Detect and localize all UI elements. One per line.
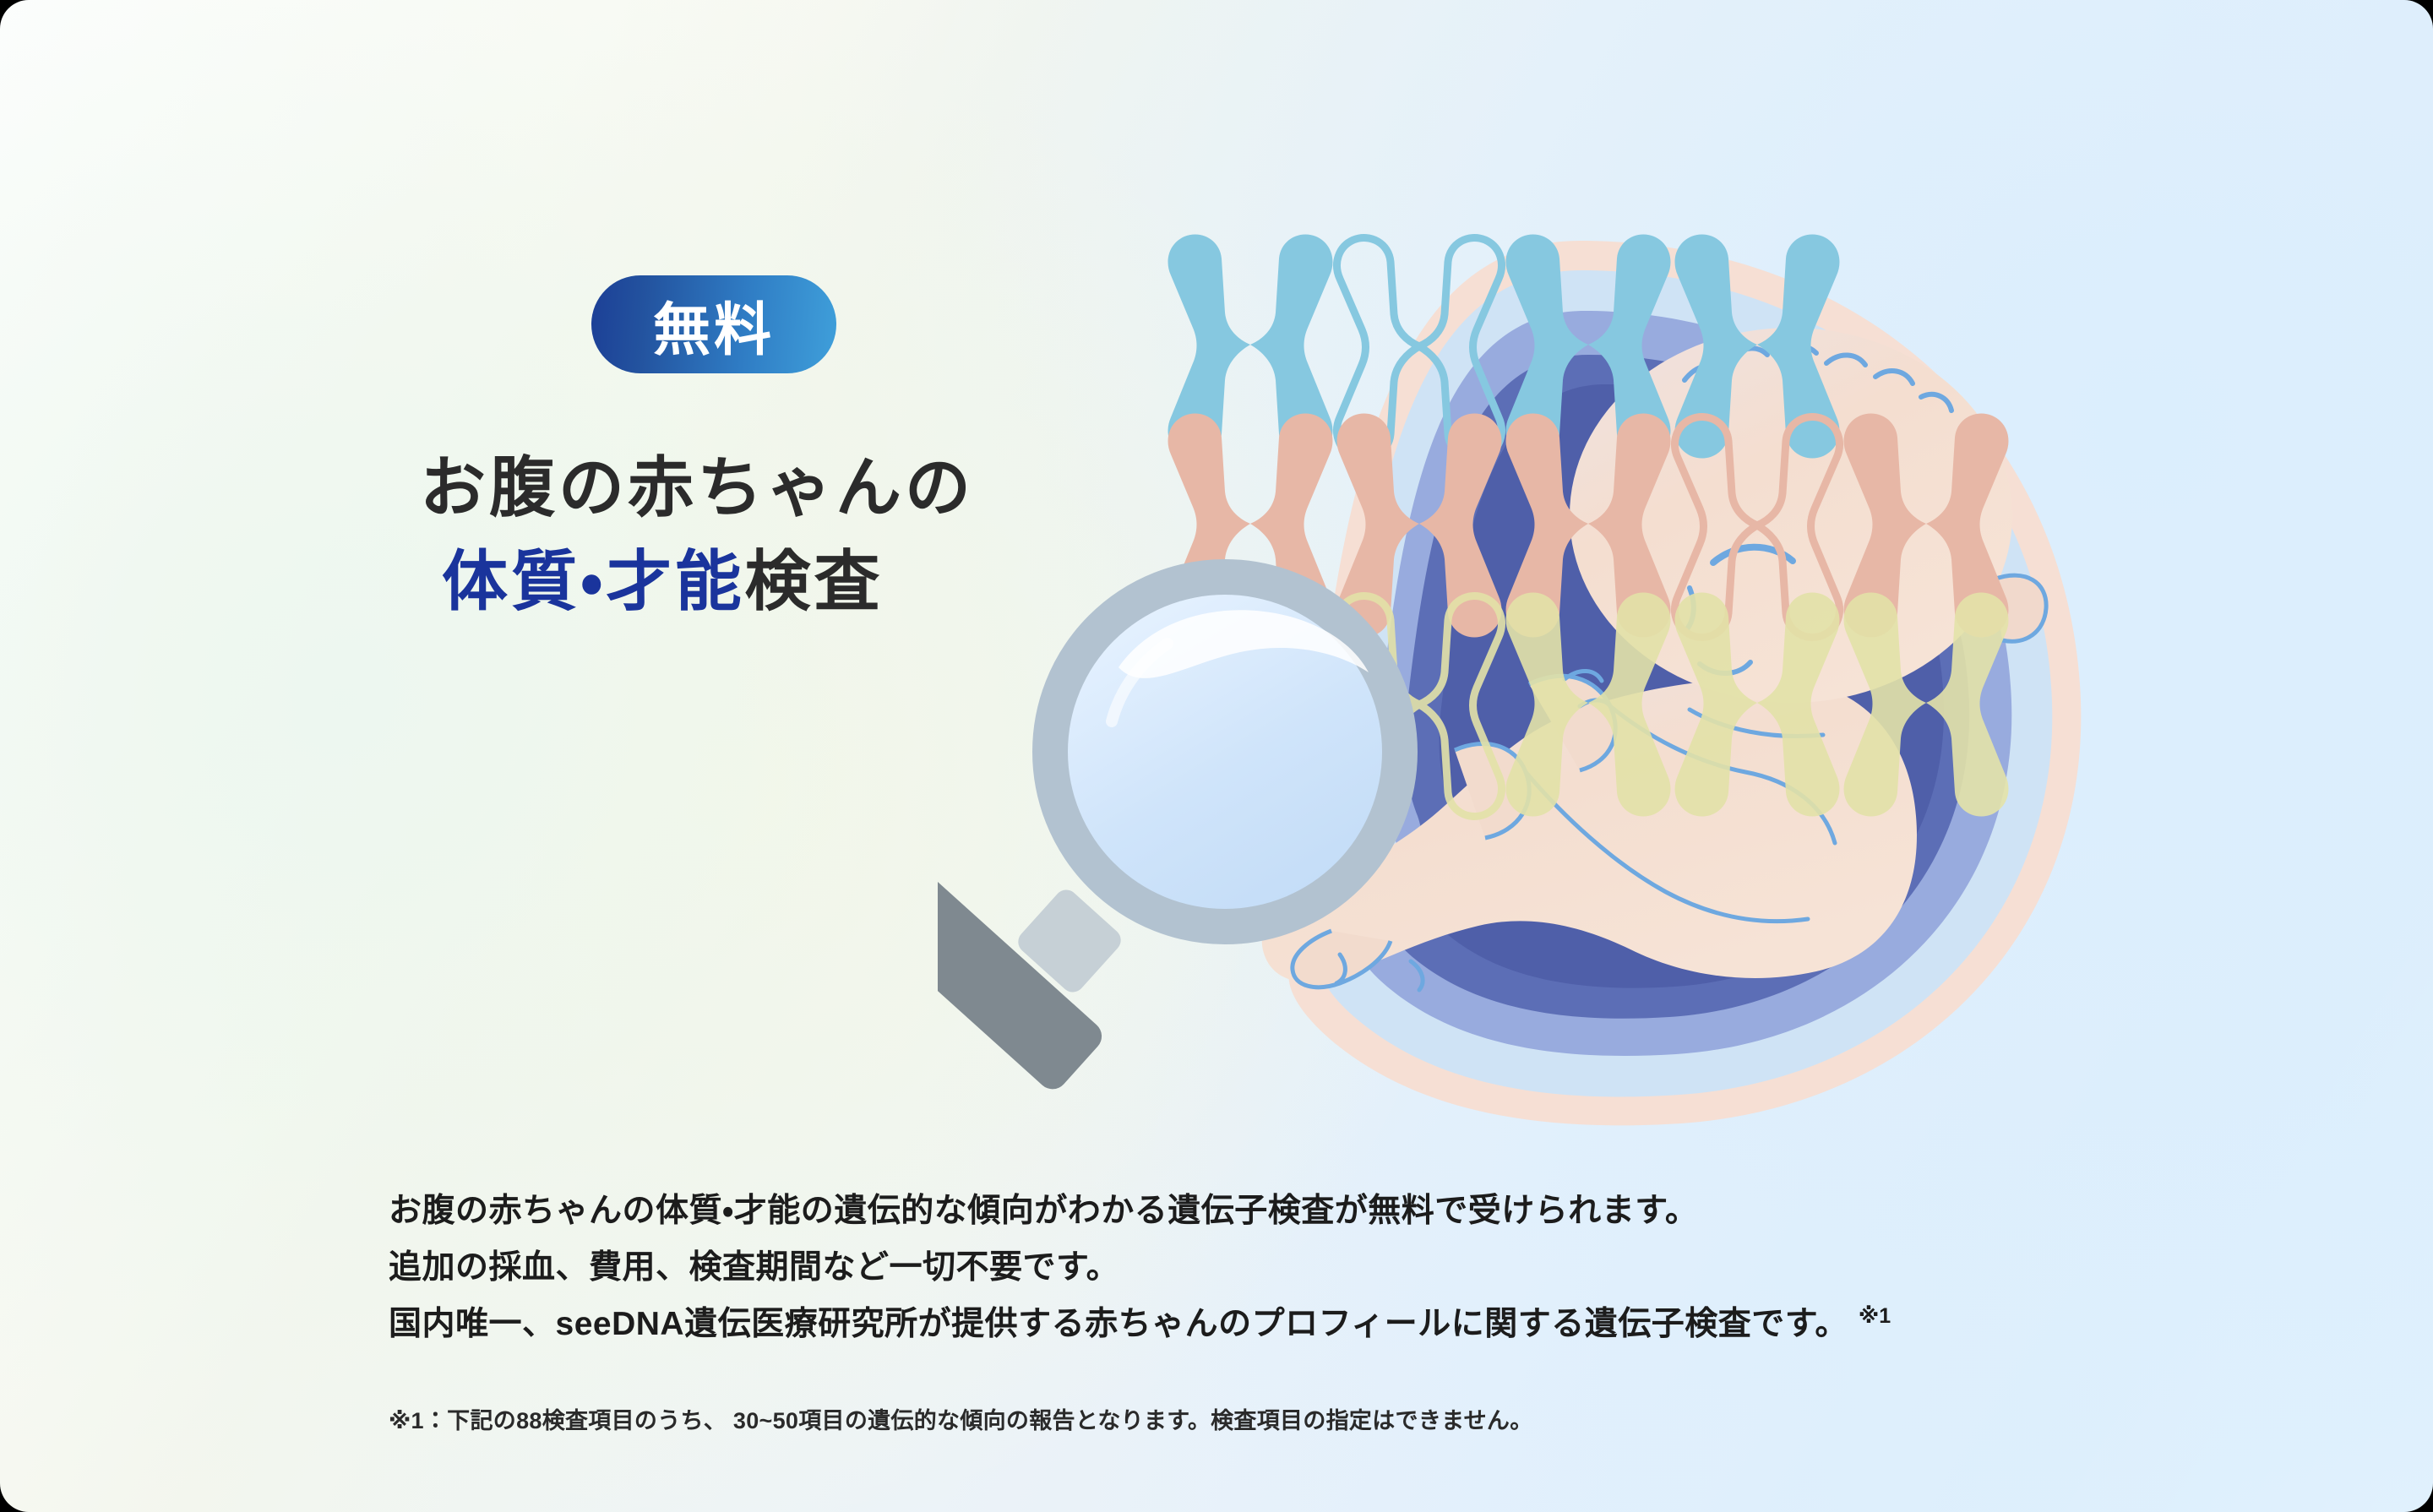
headline-line-1: お腹の赤ちゃんの — [420, 441, 1265, 535]
fetus-illustration — [938, 211, 2120, 1157]
free-badge: 無料 — [591, 275, 836, 373]
hero-card: 無料 お腹の赤ちゃんの 体質・才能検査 お腹の赤ちゃんの体質・才能の遺伝的な傾向… — [0, 0, 2433, 1512]
headline-highlight: 体質・才能 — [442, 544, 745, 618]
lead-line-3: 国内唯一、seeDNA遺伝医療研究所が提供する赤ちゃんのプロフィールに関する遺伝… — [389, 1296, 2129, 1352]
headline-line-2-tail: 検査 — [745, 544, 884, 618]
footnote-text: ※1：下記の88検査項目のうち、 30~50項目の遺伝的な傾向の報告となります。… — [389, 1402, 1533, 1435]
lead-paragraph: お腹の赤ちゃんの体質・才能の遺伝的な傾向がわかる遺伝子検査が無料で受けられます。… — [389, 1183, 2129, 1352]
lead-line-3-text: 国内唯一、seeDNA遺伝医療研究所が提供する赤ちゃんのプロフィールに関する遺伝… — [389, 1306, 1848, 1342]
footnote-marker: ※1 — [1848, 1304, 1891, 1328]
headline-line-2: 体質・才能検査 — [420, 535, 1265, 628]
lead-line-1: お腹の赤ちゃんの体質・才能の遺伝的な傾向がわかる遺伝子検査が無料で受けられます。 — [389, 1183, 2129, 1239]
lead-line-2: 追加の採血、費用、検査期間など一切不要です。 — [389, 1239, 2129, 1296]
page-title: お腹の赤ちゃんの 体質・才能検査 — [420, 441, 1265, 628]
